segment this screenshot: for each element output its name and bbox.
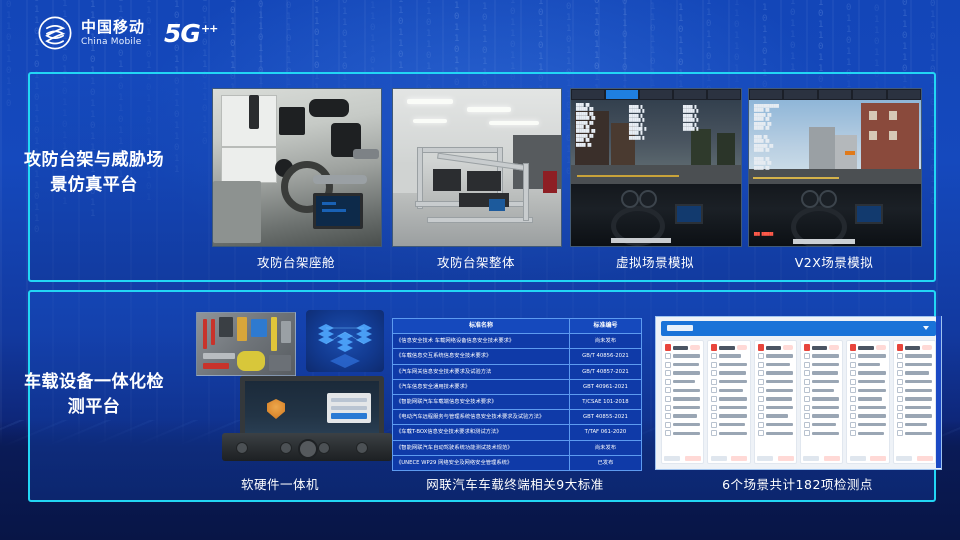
sim-progress-bar[interactable] <box>793 239 855 244</box>
sim-screen-day: █████████████ █████ ██ ██████ ██ █████ █… <box>749 89 921 246</box>
checkbox[interactable] <box>850 396 856 402</box>
category-header <box>662 341 703 353</box>
brand-name-en: China Mobile <box>81 38 145 47</box>
select-all-button[interactable] <box>757 456 773 461</box>
rig-dash-module <box>467 171 501 191</box>
checklist-item[interactable] <box>708 387 749 393</box>
tool-item <box>251 319 267 337</box>
select-all-button[interactable] <box>664 456 680 461</box>
dashboard-category-card[interactable] <box>893 340 936 464</box>
checklist-item[interactable] <box>708 422 749 428</box>
lab-photo-body <box>393 89 561 246</box>
five-g-plus-label: ++ <box>201 22 217 35</box>
checklist-item-label <box>812 363 839 366</box>
category-header <box>708 341 749 353</box>
checkbox[interactable] <box>897 405 903 411</box>
checklist-item[interactable] <box>662 379 703 385</box>
checklist-item[interactable] <box>847 387 888 393</box>
clear-selection-button[interactable] <box>685 456 701 461</box>
checklist-item[interactable] <box>801 422 842 428</box>
standard-name-cell: 《汽车网关信息安全技术要求及试验方法 <box>393 364 570 379</box>
checklist-item-label <box>766 389 793 392</box>
checklist-item-label <box>905 354 932 357</box>
checklist-item[interactable] <box>847 405 888 411</box>
caption-nine-standards: 网联汽车车载终端相关9大标准 <box>390 474 640 493</box>
standard-number-cell: 尚未发布 <box>569 334 641 349</box>
clear-selection-button[interactable] <box>731 456 747 461</box>
standards-table: 标准名称 标准编号 《信息安全技术 车载网络设备信息安全技术要求》尚未发布《车载… <box>392 318 642 471</box>
checklist-item[interactable] <box>708 362 749 368</box>
checkbox[interactable] <box>711 353 717 359</box>
select-all-button[interactable] <box>803 456 819 461</box>
checklist-item[interactable] <box>708 370 749 376</box>
card-footer <box>708 456 749 461</box>
dashboard-title-placeholder <box>667 325 693 331</box>
clear-selection-button[interactable] <box>824 456 840 461</box>
shield-alert-icon <box>758 344 764 351</box>
table-row: 《汽车网关信息安全技术要求及试验方法GB/T 40857-2021 <box>393 364 642 379</box>
standard-number-cell: GB/T 40856-2021 <box>569 349 641 364</box>
checkbox[interactable] <box>804 430 810 436</box>
checkbox[interactable] <box>850 430 856 436</box>
select-all-button[interactable] <box>850 456 866 461</box>
actuator-arm <box>353 149 379 159</box>
checkbox[interactable] <box>711 413 717 419</box>
sim-window <box>869 111 877 120</box>
checklist-item[interactable] <box>894 405 935 411</box>
category-title <box>766 346 781 350</box>
checkbox[interactable] <box>804 362 810 368</box>
checklist-item[interactable] <box>755 405 796 411</box>
tool-item <box>269 355 291 371</box>
category-count-badge <box>829 345 839 350</box>
checkbox[interactable] <box>758 370 764 376</box>
checklist-item[interactable] <box>662 353 703 359</box>
login-field[interactable] <box>331 398 367 402</box>
checklist-item-label <box>766 406 793 409</box>
checkbox[interactable] <box>897 396 903 402</box>
dashboard-columns <box>661 340 936 464</box>
checkbox[interactable] <box>897 379 903 385</box>
checklist-item-label <box>766 423 793 426</box>
checklist-item-label <box>673 397 700 400</box>
checklist-item[interactable] <box>894 362 935 368</box>
dashboard-category-card[interactable] <box>707 340 750 464</box>
sim-hud-center: █████ █ ██████ █ █████ █ ██████ █ █████ … <box>629 105 646 140</box>
checkbox[interactable] <box>804 370 810 376</box>
slide-canvas: 0 1 1 0 1 1 0 1 1 0 1 0 1 1 0 1 1 0 1 1 … <box>0 0 960 540</box>
checkbox[interactable] <box>897 353 903 359</box>
laptop-latch <box>236 442 248 454</box>
checkbox[interactable] <box>711 430 717 436</box>
checkbox[interactable] <box>804 413 810 419</box>
checklist-item-label <box>673 423 700 426</box>
checklist-item-label <box>812 371 838 374</box>
table-row: 《智能网联汽车自动驾驶系统功能测试技术规范》尚未发布 <box>393 440 642 455</box>
checkbox[interactable] <box>758 396 764 402</box>
tablet-ui-line <box>322 202 336 205</box>
cable-bundle <box>249 95 259 129</box>
checklist-item[interactable] <box>894 430 935 436</box>
standard-number-cell: GB/T 40857-2021 <box>569 364 641 379</box>
standard-name-cell: 《智能网联汽车自动驾驶系统功能测试技术规范》 <box>393 440 570 455</box>
checklist-item[interactable] <box>755 396 796 402</box>
standard-number-cell: T/TAF 061-2020 <box>569 425 641 440</box>
sim-hud-left: ████ ██ ██████ ██ ██████ ██ ███████ ██ █… <box>576 103 595 147</box>
checkbox[interactable] <box>850 387 856 393</box>
checklist-item-label <box>905 380 932 383</box>
photo-rugged-laptop <box>222 376 392 462</box>
checklist-item-label <box>812 432 839 435</box>
rack-shelf-lower <box>221 147 277 183</box>
checkbox[interactable] <box>758 353 764 359</box>
category-header <box>755 341 796 353</box>
sim-hud-right: █████ █ ██████ █ █████ █ ██████ █ █████ … <box>683 105 698 131</box>
checklist-item-label <box>812 406 839 409</box>
sim-road-marking <box>753 177 839 179</box>
checkbox[interactable] <box>850 379 856 385</box>
dashboard-header-bar[interactable] <box>661 321 936 336</box>
checklist-item[interactable] <box>894 413 935 419</box>
checklist-item[interactable] <box>847 396 888 402</box>
sim-gauge <box>801 190 819 208</box>
tool-item <box>211 319 215 345</box>
checklist-item[interactable] <box>755 387 796 393</box>
checklist-item-label <box>673 406 700 409</box>
checkbox[interactable] <box>711 396 717 402</box>
sim-tab[interactable] <box>750 90 782 99</box>
checklist-item[interactable] <box>708 430 749 436</box>
clear-selection-button[interactable] <box>870 456 886 461</box>
shield-alert-icon <box>665 344 671 351</box>
photo-attack-bench-whole <box>392 88 562 247</box>
checkbox[interactable] <box>804 387 810 393</box>
checklist-item[interactable] <box>847 430 888 436</box>
checkbox[interactable] <box>850 353 856 359</box>
checkbox[interactable] <box>758 422 764 428</box>
sim-progress-bar[interactable] <box>611 238 671 243</box>
brand-name-cn: 中国移动 <box>81 20 145 35</box>
category-count-badge <box>876 345 886 350</box>
checkbox[interactable] <box>850 405 856 411</box>
checklist-item-label <box>905 389 932 392</box>
checkbox[interactable] <box>711 362 717 368</box>
checklist-item[interactable] <box>755 379 796 385</box>
checklist-item[interactable] <box>708 396 749 402</box>
lab-chair <box>543 171 557 193</box>
checklist-item-label <box>719 414 746 417</box>
dashboard-category-card[interactable] <box>661 340 704 464</box>
checklist-item-label <box>812 354 839 357</box>
checklist-item[interactable] <box>801 370 842 376</box>
card-footer <box>662 456 703 461</box>
shield-alert-icon <box>804 344 810 351</box>
checkbox[interactable] <box>758 405 764 411</box>
checkbox[interactable] <box>758 362 764 368</box>
tool-item <box>203 353 235 359</box>
checkbox[interactable] <box>758 379 764 385</box>
cockpit-photo-body <box>213 89 381 246</box>
dashboard-category-card[interactable] <box>800 340 843 464</box>
checklist-item-label <box>766 371 793 374</box>
checkbox[interactable] <box>758 430 764 436</box>
table-row: 《车载信息交互系统信息安全技术要求》GB/T 40856-2021 <box>393 349 642 364</box>
five-g-label: 5G <box>164 21 200 46</box>
table-row: 《智能网联汽车车载端信息安全技术要求》T/CSAE 101-2018 <box>393 395 642 410</box>
checkbox[interactable] <box>897 370 903 376</box>
checkbox[interactable] <box>711 370 717 376</box>
checkbox[interactable] <box>897 413 903 419</box>
checkbox[interactable] <box>897 430 903 436</box>
checklist-item-label <box>858 414 885 417</box>
sim-tab[interactable] <box>888 90 920 99</box>
checklist-item[interactable] <box>801 353 842 359</box>
checklist-item[interactable] <box>894 396 935 402</box>
checklist-item[interactable] <box>708 353 749 359</box>
checklist-item[interactable] <box>847 353 888 359</box>
checkbox[interactable] <box>758 413 764 419</box>
checklist-item-label <box>673 380 695 383</box>
checklist-item-label <box>766 354 793 357</box>
standard-name-cell: 《车载信息交互系统信息安全技术要求》 <box>393 349 570 364</box>
category-header <box>894 341 935 353</box>
tool-item <box>237 317 247 341</box>
checkbox[interactable] <box>850 422 856 428</box>
tablet-ui-line <box>322 209 346 212</box>
sim-window <box>889 111 897 120</box>
standard-number-cell: 已发布 <box>569 455 641 470</box>
card-footer <box>755 456 796 461</box>
checkbox[interactable] <box>804 353 810 359</box>
checkbox[interactable] <box>665 370 671 376</box>
standard-name-cell: 《车载T-BOX信息安全技术要求和测试方法》 <box>393 425 570 440</box>
login-dialog[interactable] <box>327 393 371 423</box>
checklist-item[interactable] <box>662 430 703 436</box>
checklist-item-label <box>766 432 793 435</box>
checklist-item[interactable] <box>801 379 842 385</box>
checkbox[interactable] <box>665 405 671 411</box>
checklist-item[interactable] <box>801 362 842 368</box>
seat <box>213 181 261 243</box>
checklist-item-label <box>905 406 931 409</box>
sim-screen-night: ████ ██ ██████ ██ ██████ ██ ███████ ██ █… <box>571 89 741 246</box>
checklist-item[interactable] <box>755 430 796 436</box>
checklist-item-label <box>858 406 885 409</box>
category-count-badge <box>783 345 793 350</box>
photo-attack-bench-cockpit <box>212 88 382 247</box>
checkbox[interactable] <box>665 362 671 368</box>
category-title <box>719 346 734 350</box>
checkbox[interactable] <box>711 422 717 428</box>
sim-toolbar[interactable] <box>571 89 741 100</box>
checklist-item[interactable] <box>801 405 842 411</box>
table-header-row: 标准名称 标准编号 <box>393 319 642 334</box>
category-header <box>847 341 888 353</box>
category-count-badge <box>690 345 700 350</box>
checklist-item-label <box>905 371 929 374</box>
checkbox[interactable] <box>850 370 856 376</box>
panel-title-vehicle-device: 车载设备一体化检测平台 <box>18 370 170 420</box>
checklist-item[interactable] <box>801 396 842 402</box>
standard-name-cell: 《智能网联汽车车载端信息安全技术要求》 <box>393 395 570 410</box>
laptop-latch <box>318 442 330 454</box>
card-footer <box>801 456 842 461</box>
caption-bench-cockpit: 攻防台架座舱 <box>212 252 380 271</box>
checklist-item[interactable] <box>894 370 935 376</box>
rig-frame-top <box>417 147 503 153</box>
standard-name-cell: 《UNECE WP29 网络安全及网络安全管理系统》 <box>393 455 570 470</box>
sim-gauge <box>639 190 657 208</box>
checklist-item[interactable] <box>894 379 935 385</box>
checklist-item[interactable] <box>894 422 935 428</box>
checkbox[interactable] <box>897 362 903 368</box>
checklist-item[interactable] <box>662 370 703 376</box>
chevron-down-icon[interactable] <box>923 326 929 330</box>
checklist-item-label <box>673 389 700 392</box>
select-all-button[interactable] <box>711 456 727 461</box>
photo-v2x-scene-simulation: █████████████ █████ ██ ██████ ██ █████ █… <box>748 88 922 247</box>
checklist-item-label <box>812 389 834 392</box>
checklist-item-label <box>858 397 882 400</box>
caption-virtual-scene: 虚拟场景模拟 <box>570 252 740 271</box>
checklist-item-label <box>719 406 746 409</box>
clear-selection-button[interactable] <box>917 456 933 461</box>
tool-item <box>281 321 291 343</box>
checklist-item-label <box>766 397 792 400</box>
checklist-item[interactable] <box>801 387 842 393</box>
checklist-item[interactable] <box>755 362 796 368</box>
laptop-base <box>222 433 392 461</box>
checkbox[interactable] <box>850 362 856 368</box>
checklist-item-label <box>673 354 700 357</box>
table-body: 《信息安全技术 车载网络设备信息安全技术要求》尚未发布《车载信息交互系统信息安全… <box>393 334 642 471</box>
shield-alert-icon <box>850 344 856 351</box>
checklist-item-label <box>673 371 700 374</box>
rail-bar <box>313 175 367 184</box>
checklist-item[interactable] <box>894 353 935 359</box>
checkbox[interactable] <box>804 405 810 411</box>
checkbox[interactable] <box>804 396 810 402</box>
checklist-item[interactable] <box>662 413 703 419</box>
checkbox[interactable] <box>804 379 810 385</box>
dashboard-category-card[interactable] <box>846 340 889 464</box>
tool-item <box>203 363 229 369</box>
sim-tab[interactable] <box>572 90 604 99</box>
checklist-item[interactable] <box>708 379 749 385</box>
sim-tab[interactable] <box>853 90 885 99</box>
checklist-item[interactable] <box>755 413 796 419</box>
checklist-item[interactable] <box>847 370 888 376</box>
checklist-item[interactable] <box>708 413 749 419</box>
checkbox[interactable] <box>665 353 671 359</box>
checkbox[interactable] <box>711 405 717 411</box>
standard-name-cell: 《电动汽车远程服务与管理系统信息安全技术要求及试验方法》 <box>393 410 570 425</box>
checkbox[interactable] <box>897 422 903 428</box>
checklist-item[interactable] <box>662 422 703 428</box>
checklist-item[interactable] <box>894 387 935 393</box>
checkbox[interactable] <box>665 413 671 419</box>
sim-traffic-light <box>845 151 855 155</box>
rig-seat <box>433 169 461 191</box>
standard-number-cell: 尚未发布 <box>569 440 641 455</box>
checkbox[interactable] <box>711 379 717 385</box>
checklist-item-label <box>858 371 885 374</box>
ceiling-light <box>413 119 447 123</box>
standard-name-cell: 《汽车信息安全通用技术要求》 <box>393 379 570 394</box>
shield-alert-icon <box>711 344 717 351</box>
dashboard-category-card[interactable] <box>754 340 797 464</box>
sim-tab[interactable] <box>708 90 740 99</box>
checkbox[interactable] <box>665 422 671 428</box>
china-mobile-logo-icon <box>38 16 72 50</box>
checklist-item[interactable] <box>801 413 842 419</box>
brand-lockup: 中国移动 China Mobile 5G ++ <box>38 16 217 50</box>
checkbox[interactable] <box>665 379 671 385</box>
checklist-item-label <box>858 363 880 366</box>
checklist-item[interactable] <box>755 370 796 376</box>
checklist-item[interactable] <box>755 422 796 428</box>
checklist-item[interactable] <box>847 362 888 368</box>
tool-item <box>203 319 207 349</box>
sim-tab[interactable] <box>784 90 816 99</box>
checklist-item[interactable] <box>662 362 703 368</box>
checklist-item[interactable] <box>662 396 703 402</box>
checklist-item-label <box>905 432 932 435</box>
checkbox[interactable] <box>850 413 856 419</box>
laptop-latch <box>356 442 368 454</box>
checklist-item-label <box>719 380 746 383</box>
checkbox[interactable] <box>665 430 671 436</box>
ceiling-light <box>489 121 539 125</box>
sim-toolbar[interactable] <box>749 89 921 100</box>
laptop-port-cap <box>298 439 318 459</box>
sim-road-marking <box>577 175 679 177</box>
sim-tab-active[interactable] <box>606 90 638 99</box>
checkbox[interactable] <box>804 422 810 428</box>
login-field[interactable] <box>331 406 367 410</box>
rig-frame-base <box>427 217 533 223</box>
sim-tab[interactable] <box>640 90 672 99</box>
checklist-item-label <box>812 397 839 400</box>
login-button[interactable] <box>331 413 367 419</box>
select-all-button[interactable] <box>896 456 912 461</box>
sim-center-screen <box>855 204 883 224</box>
sim-tab[interactable] <box>674 90 706 99</box>
clear-selection-button[interactable] <box>778 456 794 461</box>
checklist-item[interactable] <box>801 430 842 436</box>
tool-item <box>237 351 265 371</box>
laptop-screen-bezel <box>240 376 384 439</box>
bench-module-b <box>309 99 349 117</box>
checkbox[interactable] <box>758 387 764 393</box>
checklist-item[interactable] <box>662 405 703 411</box>
shield-icon <box>267 399 285 419</box>
checklist-item[interactable] <box>847 422 888 428</box>
checkbox[interactable] <box>665 396 671 402</box>
checkbox[interactable] <box>897 387 903 393</box>
checklist-item[interactable] <box>755 353 796 359</box>
checklist-item-label <box>673 414 697 417</box>
caption-v2x-scene: V2X场景模拟 <box>748 252 920 271</box>
checklist-item[interactable] <box>662 387 703 393</box>
checkbox[interactable] <box>711 387 717 393</box>
checklist-item[interactable] <box>847 413 888 419</box>
checklist-item[interactable] <box>847 379 888 385</box>
checkbox[interactable] <box>665 387 671 393</box>
checklist-item[interactable] <box>708 405 749 411</box>
sim-tab[interactable] <box>819 90 851 99</box>
caption-integrated-machine: 软硬件一体机 <box>190 474 370 493</box>
